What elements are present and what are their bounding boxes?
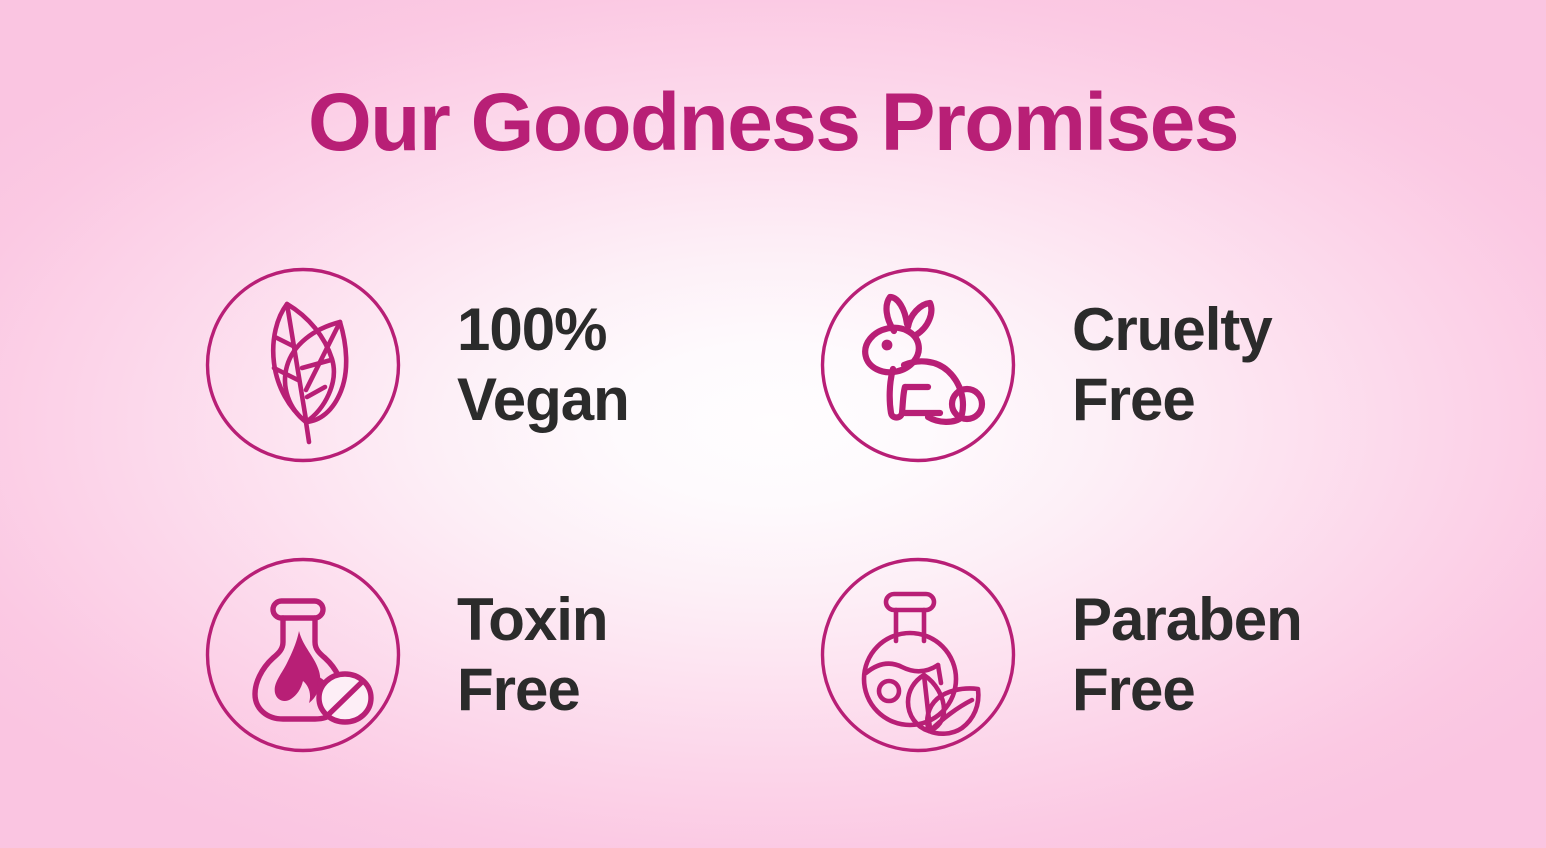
flask-flame-icon: [205, 557, 401, 753]
page-title: Our Goodness Promises: [0, 76, 1546, 170]
promise-item-toxin-free: Toxin Free: [205, 557, 608, 753]
promise-item-vegan: 100% Vegan: [205, 267, 629, 463]
leaves-icon: [205, 267, 401, 463]
flask-leaves-icon: [820, 557, 1016, 753]
promise-label: Cruelty Free: [1072, 295, 1272, 435]
rabbit-icon: [820, 267, 1016, 463]
promise-label: Toxin Free: [457, 585, 608, 725]
promise-item-paraben-free: Paraben Free: [820, 557, 1302, 753]
promise-label: Paraben Free: [1072, 585, 1302, 725]
promise-label: 100% Vegan: [457, 295, 629, 435]
promise-item-cruelty-free: Cruelty Free: [820, 267, 1272, 463]
promises-grid: 100% Vegan: [0, 255, 1546, 785]
goodness-promises-banner: Our Goodness Promises: [0, 0, 1546, 848]
